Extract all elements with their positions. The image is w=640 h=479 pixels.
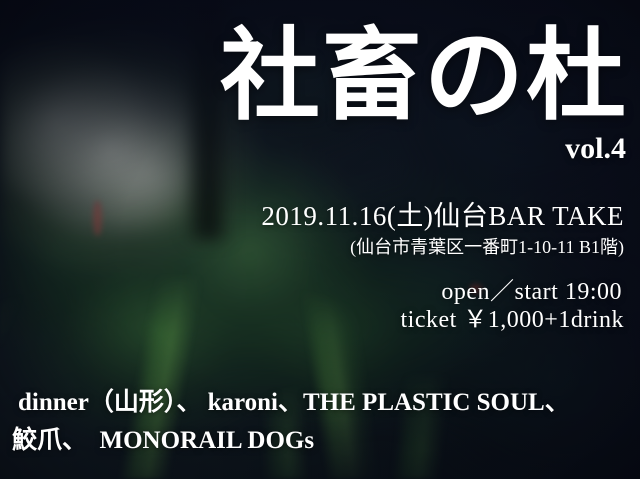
event-poster: 社畜の杜 vol.4 2019.11.16(土)仙台BAR TAKE (仙台市青… [0,0,640,479]
ticket-price: ticket ￥1,000+1drink [400,308,624,332]
page-title: 社畜の杜 [220,26,628,126]
open-start-time: open／start 19:00 [441,280,622,304]
volume-label: vol.4 [565,134,626,164]
event-date-venue: 2019.11.16(土)仙台BAR TAKE [261,203,624,230]
lineup-line-1: dinner（山形）、 karoni、THE PLASTIC SOUL、 [18,390,570,415]
lineup-line-2: 鮫爪、 MONORAIL DOGs [12,428,314,453]
background-bokeh-speck-red [93,200,102,236]
venue-address: (仙台市青葉区一番町1-10-11 B1階) [350,238,624,256]
